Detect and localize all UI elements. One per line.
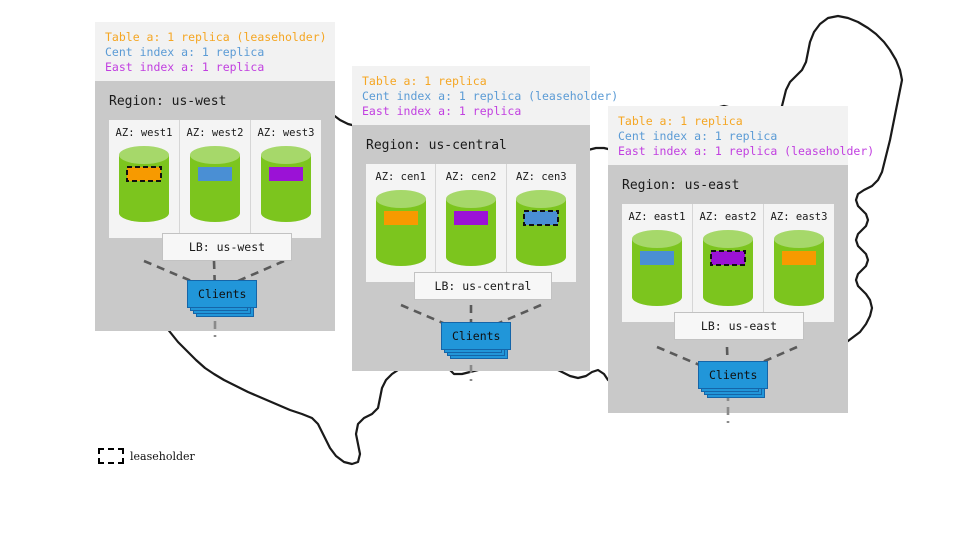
az-label: AZ: east3 — [771, 211, 828, 223]
database-cylinder-icon[interactable] — [773, 229, 825, 307]
az-box-east3[interactable]: AZ: east3 — [764, 204, 834, 322]
replica-line-cent: Cent index a: 1 replica (leaseholder) — [362, 89, 580, 104]
az-label: AZ: east2 — [700, 211, 757, 223]
legend: leaseholder — [98, 448, 195, 464]
replica-summary-us-east: Table a: 1 replicaCent index a: 1 replic… — [608, 106, 848, 165]
clients-label[interactable]: Clients — [441, 322, 511, 350]
legend-label: leaseholder — [130, 450, 195, 463]
database-cylinder-icon[interactable] — [702, 229, 754, 307]
region-title: Region: us-east — [608, 165, 848, 204]
replica-summary-us-central: Table a: 1 replicaCent index a: 1 replic… — [352, 66, 590, 125]
region-title: Region: us-central — [352, 125, 590, 164]
replica-summary-us-west: Table a: 1 replica (leaseholder)Cent ind… — [95, 22, 335, 81]
clients-label[interactable]: Clients — [187, 280, 257, 308]
az-label: AZ: west2 — [187, 127, 244, 139]
az-box-east1[interactable]: AZ: east1 — [622, 204, 693, 322]
clients-label[interactable]: Clients — [698, 361, 768, 389]
az-label: AZ: west1 — [116, 127, 173, 139]
az-container-us-west: AZ: west1 AZ: west2 AZ: west3 — [109, 120, 321, 238]
leaseholder-dashed-rect-icon — [98, 448, 124, 464]
replica-line-east: East index a: 1 replica (leaseholder) — [618, 144, 838, 159]
az-box-east2[interactable]: AZ: east2 — [693, 204, 764, 322]
az-container-us-east: AZ: east1 AZ: east2 AZ: east3 — [622, 204, 834, 322]
clients-us-west[interactable]: Clients — [187, 280, 257, 308]
az-label: AZ: east1 — [629, 211, 686, 223]
database-cylinder-icon[interactable] — [445, 189, 497, 267]
az-label: AZ: cen3 — [516, 171, 567, 183]
replica-line-table: Table a: 1 replica — [618, 114, 838, 129]
database-cylinder-icon[interactable] — [189, 145, 241, 223]
load-balancer-us-west[interactable]: LB: us-west — [162, 233, 292, 261]
region-title: Region: us-west — [95, 81, 335, 120]
database-cylinder-icon[interactable] — [375, 189, 427, 267]
az-box-west3[interactable]: AZ: west3 — [251, 120, 321, 238]
az-box-cen1[interactable]: AZ: cen1 — [366, 164, 436, 282]
replica-line-table: Table a: 1 replica — [362, 74, 580, 89]
replica-line-cent: Cent index a: 1 replica — [105, 45, 325, 60]
clients-us-east[interactable]: Clients — [698, 361, 768, 389]
load-balancer-us-east[interactable]: LB: us-east — [674, 312, 804, 340]
database-cylinder-icon[interactable] — [118, 145, 170, 223]
az-box-west2[interactable]: AZ: west2 — [180, 120, 251, 238]
az-box-west1[interactable]: AZ: west1 — [109, 120, 180, 238]
az-box-cen3[interactable]: AZ: cen3 — [507, 164, 576, 282]
database-cylinder-icon[interactable] — [515, 189, 567, 267]
replica-line-east: East index a: 1 replica — [362, 104, 580, 119]
replica-line-table: Table a: 1 replica (leaseholder) — [105, 30, 325, 45]
replica-line-cent: Cent index a: 1 replica — [618, 129, 838, 144]
database-cylinder-icon[interactable] — [260, 145, 312, 223]
clients-us-central[interactable]: Clients — [441, 322, 511, 350]
replica-line-east: East index a: 1 replica — [105, 60, 325, 75]
load-balancer-us-central[interactable]: LB: us-central — [414, 272, 552, 300]
az-container-us-central: AZ: cen1 AZ: cen2 AZ: cen3 — [366, 164, 576, 282]
database-cylinder-icon[interactable] — [631, 229, 683, 307]
az-box-cen2[interactable]: AZ: cen2 — [436, 164, 506, 282]
az-label: AZ: west3 — [258, 127, 315, 139]
az-label: AZ: cen2 — [446, 171, 497, 183]
az-label: AZ: cen1 — [375, 171, 426, 183]
